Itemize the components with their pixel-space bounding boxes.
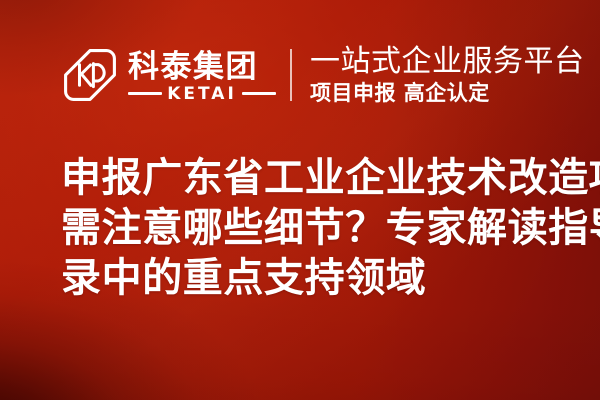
- brand-wordmark: 科泰集团 KETAI: [128, 48, 276, 103]
- tagline-main: 一站式企业服务平台: [310, 45, 585, 79]
- ketai-diamond-logo-icon: [62, 47, 118, 103]
- tagline-block: 一站式企业服务平台 项目申报 高企认定: [310, 45, 585, 106]
- page-title-line-3: 录中的重点支持领域: [61, 253, 561, 303]
- brand-name-en-row: KETAI: [128, 85, 276, 103]
- header-divider: [290, 49, 292, 101]
- wordmark-dash-left: [128, 92, 162, 95]
- page-title-line-1: 申报广东省工业企业技术改造项目: [61, 153, 561, 203]
- tagline-sub: 项目申报 高企认定: [310, 81, 585, 106]
- brand-header: 科泰集团 KETAI 一站式企业服务平台 项目申报 高企认定: [62, 42, 585, 108]
- promo-banner: 科泰集团 KETAI 一站式企业服务平台 项目申报 高企认定 申报广东省工业企业…: [0, 0, 600, 400]
- page-title: 申报广东省工业企业技术改造项目 需注意哪些细节？专家解读指导目 录中的重点支持领…: [61, 153, 561, 303]
- wordmark-dash-right: [242, 92, 276, 95]
- brand-name-en: KETAI: [162, 85, 242, 103]
- page-title-line-2: 需注意哪些细节？专家解读指导目: [61, 203, 561, 253]
- brand-name-cn: 科泰集团: [128, 50, 276, 84]
